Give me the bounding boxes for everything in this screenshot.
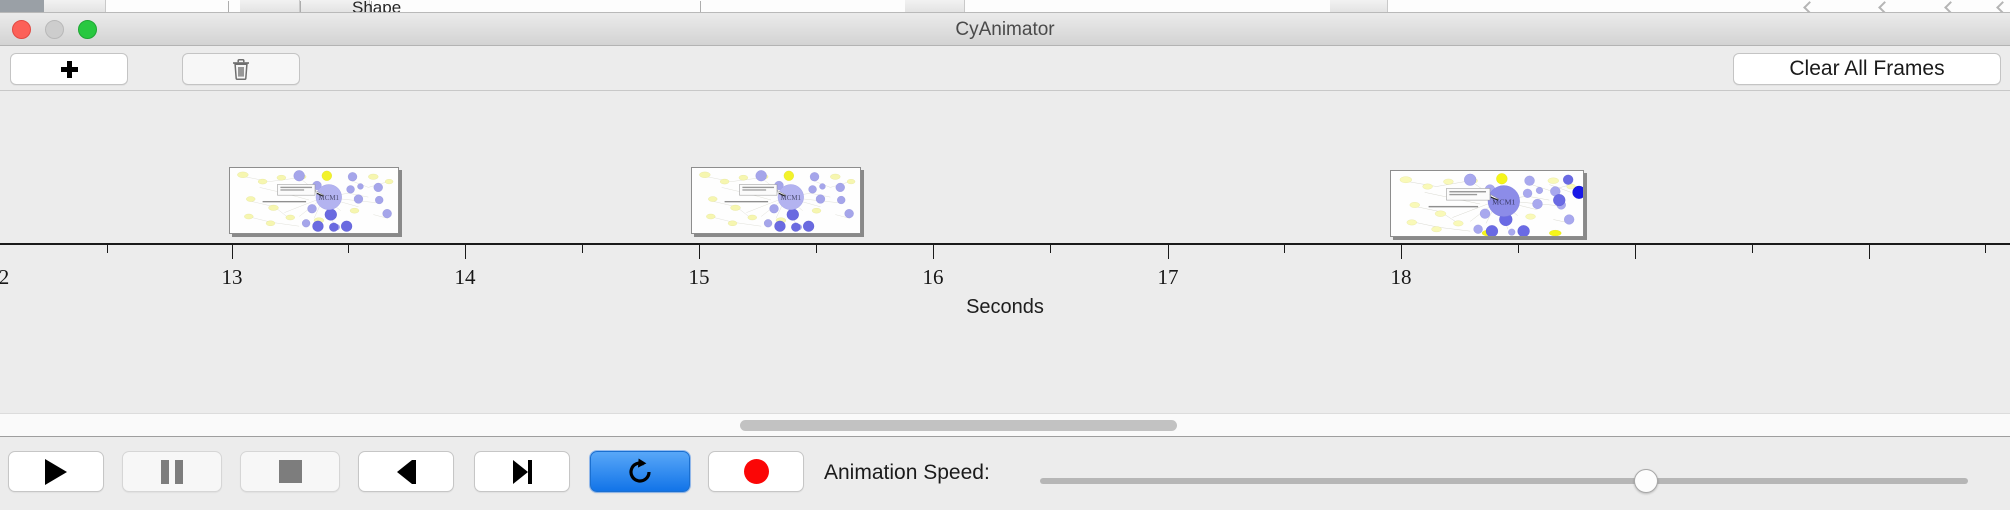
close-button[interactable] <box>12 20 31 39</box>
skip-end-icon <box>513 460 532 484</box>
background-window-strip: Shape <box>0 0 2010 13</box>
tick-label: 18 <box>1391 265 1412 290</box>
trash-icon <box>232 59 250 80</box>
title-bar: CyAnimator <box>0 13 2010 46</box>
playback-toolbar: Animation Speed: <box>0 438 2010 510</box>
add-frame-button[interactable] <box>10 53 128 85</box>
loop-icon <box>626 458 654 486</box>
frame-toolbar: Clear All Frames <box>0 46 2010 91</box>
tick-label: 17 <box>1158 265 1179 290</box>
animation-speed-label: Animation Speed: <box>824 461 990 485</box>
minimize-button[interactable] <box>45 20 64 39</box>
chevron-left-icon <box>1944 1 1957 13</box>
skip-start-icon <box>397 460 416 484</box>
keyframe-thumbnail-3[interactable]: MCM1 <box>1390 170 1584 237</box>
stop-button[interactable] <box>240 451 340 492</box>
pause-icon <box>161 460 183 484</box>
plus-icon <box>61 61 78 78</box>
keyframe-thumbnail-2[interactable]: MCM1 <box>691 167 861 234</box>
pause-button[interactable] <box>122 451 222 492</box>
slider-thumb[interactable] <box>1634 469 1658 493</box>
tick-label: 14 <box>455 265 476 290</box>
chevron-left-icon <box>1878 1 1891 13</box>
keyframe-thumbnail-1[interactable]: MCM1 <box>229 167 399 234</box>
tick-label: 15 <box>689 265 710 290</box>
slider-track[interactable] <box>1040 478 1968 484</box>
animation-speed-slider[interactable] <box>1040 469 1968 493</box>
loop-button[interactable] <box>590 451 690 492</box>
maximize-button[interactable] <box>78 20 97 39</box>
scrollbar-thumb[interactable] <box>740 420 1177 431</box>
skip-end-button[interactable] <box>474 451 570 492</box>
chevron-left-icon <box>1803 1 1816 13</box>
delete-frame-button[interactable] <box>182 53 300 85</box>
traffic-light-group <box>12 20 97 39</box>
cyanimator-window: Shape CyAnimator Cl <box>0 0 2010 510</box>
timeline-panel[interactable]: MCM1 <box>0 91 2010 413</box>
clear-all-frames-button[interactable]: Clear All Frames <box>1733 53 2001 85</box>
stop-icon <box>279 460 302 483</box>
clear-all-frames-label: Clear All Frames <box>1789 57 1944 81</box>
timeline-horizontal-scrollbar[interactable] <box>0 413 2010 437</box>
record-button[interactable] <box>708 451 804 492</box>
axis-title: Seconds <box>0 296 2010 319</box>
background-window-fragment-label: Shape <box>352 0 401 13</box>
play-icon <box>45 459 67 485</box>
skip-start-button[interactable] <box>358 451 454 492</box>
tick-label: 2 <box>0 265 9 290</box>
tick-label: 16 <box>923 265 944 290</box>
tick-label: 13 <box>222 265 243 290</box>
timeline-axis <box>0 243 2010 245</box>
play-button[interactable] <box>8 451 104 492</box>
window-title: CyAnimator <box>0 13 2010 46</box>
chevron-left-icon <box>1996 1 2009 13</box>
record-icon <box>744 459 769 484</box>
